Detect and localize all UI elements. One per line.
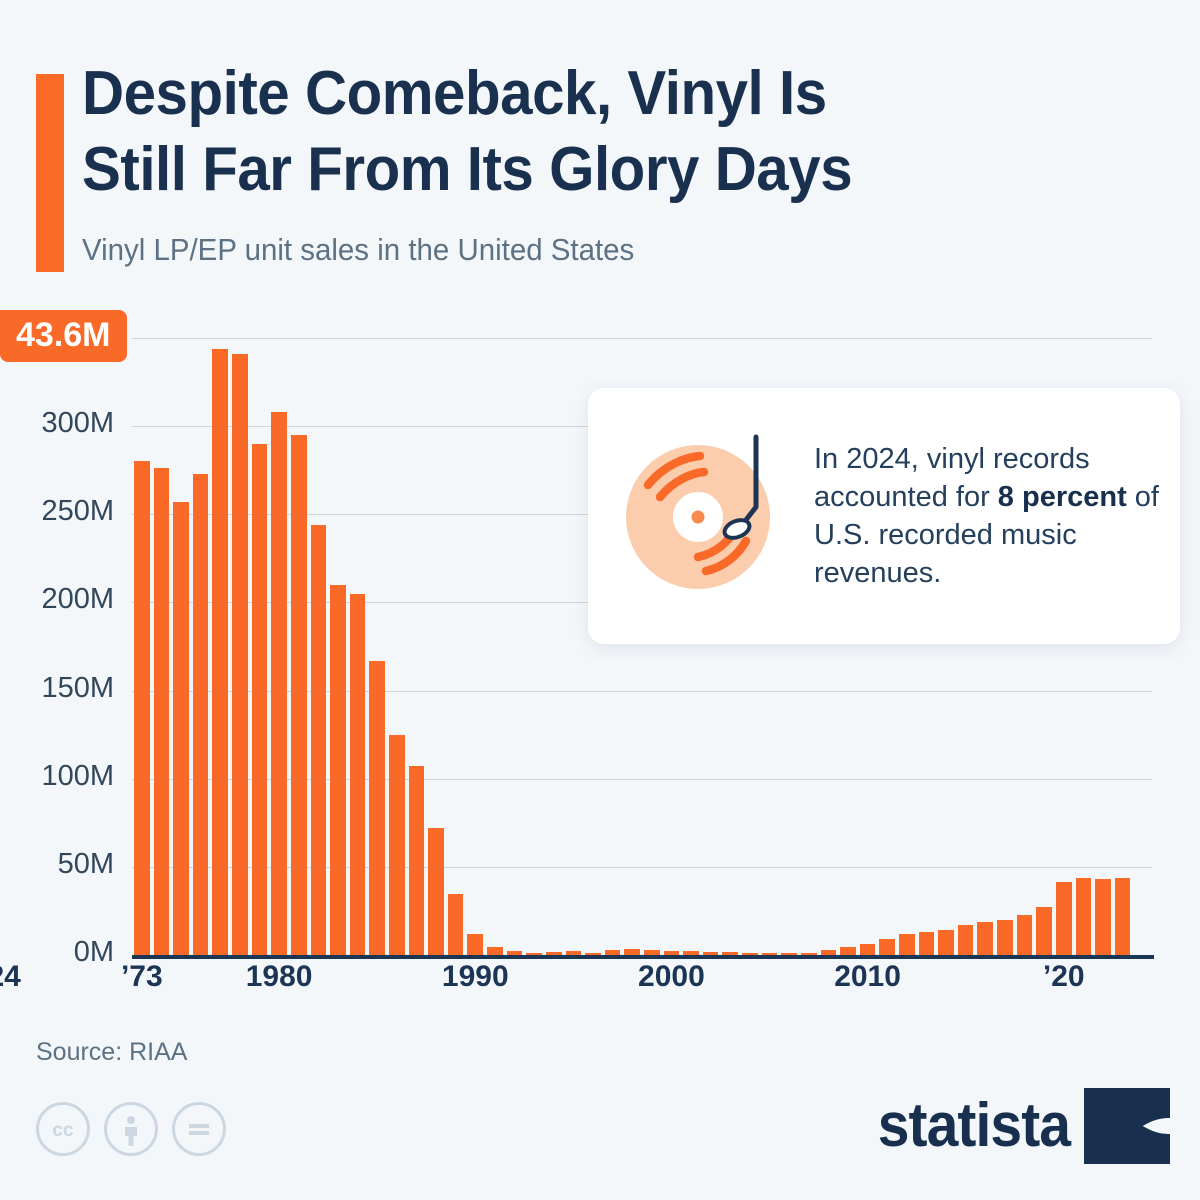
cc-icon: cc [36, 1102, 90, 1156]
bar[interactable] [938, 930, 954, 955]
bar[interactable] [134, 461, 150, 955]
bar[interactable] [448, 894, 464, 955]
bar[interactable] [212, 349, 228, 955]
bar[interactable] [958, 925, 974, 955]
bar[interactable] [428, 828, 444, 955]
y-axis-tick-label: 300M [18, 407, 114, 440]
bar[interactable] [154, 468, 170, 955]
bar[interactable] [1095, 879, 1111, 955]
bar[interactable] [232, 354, 248, 955]
header: Despite Comeback, Vinyl Is Still Far Fro… [0, 0, 1200, 300]
x-axis-tick-label: ’73 [121, 960, 163, 994]
source-label: Source: RIAA [36, 1038, 187, 1067]
y-axis-tick-label: 250M [18, 495, 114, 528]
svg-text:cc: cc [52, 1120, 74, 1141]
x-axis-tick-label: 1990 [442, 960, 509, 994]
x-axis-tick-label: ’24 [0, 960, 21, 994]
bar[interactable] [1115, 878, 1131, 955]
bar[interactable] [350, 594, 366, 955]
y-axis-tick-label: 50M [18, 848, 114, 881]
bar[interactable] [1076, 878, 1092, 955]
statista-logo: statista [861, 1088, 1170, 1164]
bar[interactable] [311, 525, 327, 955]
page-title: Despite Comeback, Vinyl Is Still Far Fro… [82, 56, 1107, 208]
bar[interactable] [467, 934, 483, 955]
vinyl-record-icon [620, 429, 790, 604]
title-line-2: Still Far From Its Glory Days [82, 132, 1107, 208]
bar[interactable] [899, 934, 915, 955]
y-axis-tick-label: 100M [18, 760, 114, 793]
license-icons: cc [36, 1102, 226, 1156]
bar[interactable] [193, 474, 209, 955]
title-accent-bar [36, 74, 64, 272]
no-derivatives-icon [172, 1102, 226, 1156]
bar[interactable] [919, 932, 935, 955]
x-axis-tick-label: ’20 [1043, 960, 1085, 994]
gridline [132, 338, 1152, 339]
bar[interactable] [291, 435, 307, 955]
bar[interactable] [369, 661, 385, 955]
bar[interactable] [389, 735, 405, 955]
y-axis-tick-label: 0M [18, 936, 114, 969]
bar[interactable] [977, 922, 993, 955]
bar[interactable] [271, 412, 287, 955]
bar[interactable] [252, 444, 268, 955]
bar[interactable] [1017, 915, 1033, 955]
x-axis-tick-label: 1980 [246, 960, 313, 994]
statista-mark [1084, 1088, 1170, 1164]
x-axis-tick-label: 2000 [638, 960, 705, 994]
info-text-highlight: 8 percent [998, 481, 1127, 513]
bar[interactable] [997, 920, 1013, 955]
y-axis-tick-label: 200M [18, 583, 114, 616]
page-subtitle: Vinyl LP/EP unit sales in the United Sta… [82, 232, 634, 268]
bar[interactable] [879, 939, 895, 955]
statista-wordmark: statista [878, 1095, 1070, 1157]
x-axis-tick-label: 2010 [834, 960, 901, 994]
attribution-icon [104, 1102, 158, 1156]
info-callout-text: In 2024, vinyl records accounted for 8 p… [814, 440, 1162, 592]
y-axis-tick-label: 150M [18, 672, 114, 705]
bar[interactable] [173, 502, 189, 955]
value-flag-tail [0, 310, 14, 330]
info-callout-card: In 2024, vinyl records accounted for 8 p… [588, 388, 1180, 644]
value-flag-label: 43.6M [0, 310, 127, 362]
bar[interactable] [840, 947, 856, 955]
bar[interactable] [860, 944, 876, 955]
bar[interactable] [330, 585, 346, 955]
bar[interactable] [487, 947, 503, 955]
bar[interactable] [409, 766, 425, 955]
bar[interactable] [1056, 882, 1072, 956]
title-line-1: Despite Comeback, Vinyl Is [82, 56, 1107, 132]
x-axis-line [132, 955, 1154, 959]
bar[interactable] [1036, 907, 1052, 955]
